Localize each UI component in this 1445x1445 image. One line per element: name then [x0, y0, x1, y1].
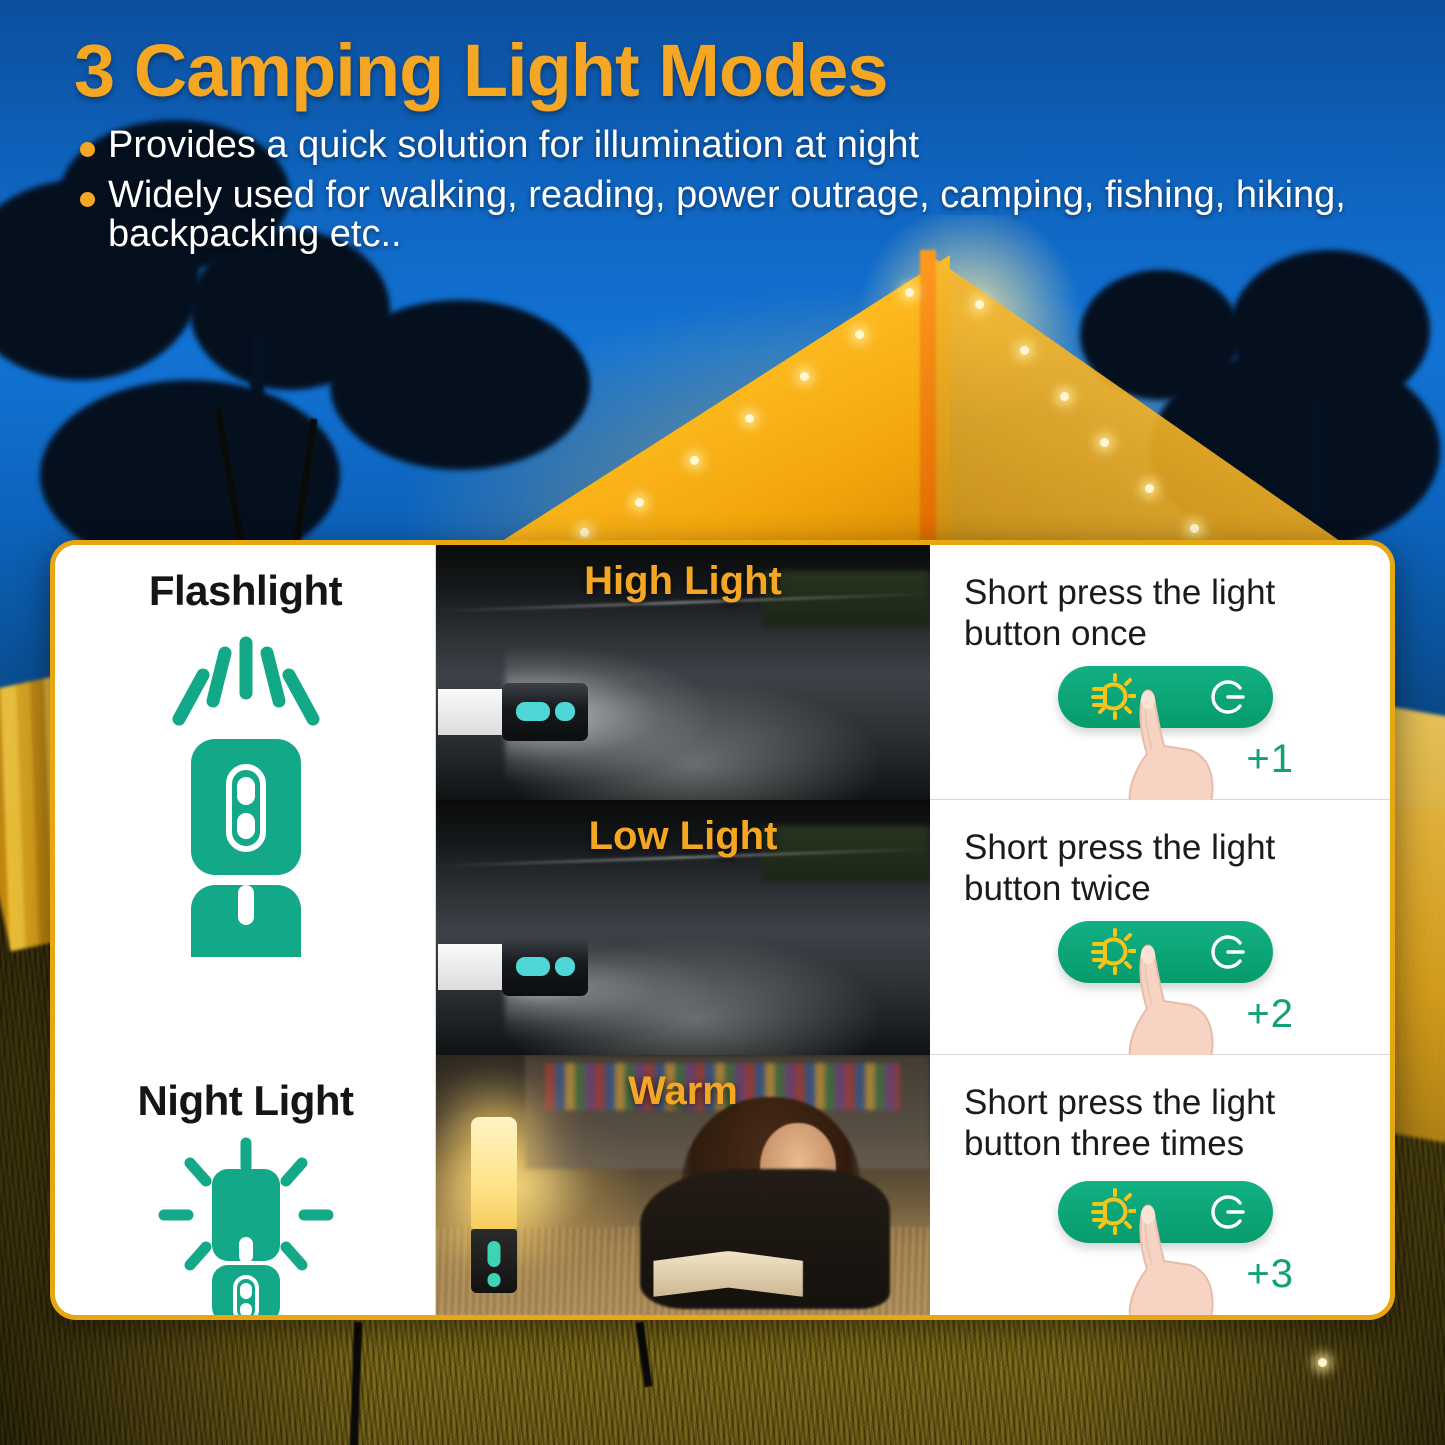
press-count-label: +3	[1246, 1252, 1294, 1297]
string-light	[1318, 1358, 1327, 1367]
flashlight-product	[438, 938, 588, 996]
power-icon	[1207, 676, 1249, 718]
bullet-text: Provides a quick solution for illuminati…	[108, 124, 919, 166]
string-light	[1060, 392, 1069, 401]
power-icon	[1207, 1191, 1249, 1233]
lantern-base	[471, 1229, 517, 1293]
flashlight-body	[502, 938, 588, 996]
flashlight-button-small	[555, 957, 575, 976]
bulb-rays-icon	[1082, 1187, 1136, 1237]
tree-silhouette	[330, 300, 590, 470]
instruction-text: Short press the light button twice	[964, 828, 1344, 909]
press-count-label: +2	[1246, 992, 1294, 1037]
string-light	[635, 498, 644, 507]
photo-caption: Low Light	[436, 814, 930, 859]
light-button-control[interactable]	[1058, 666, 1273, 728]
photo-caption: High Light	[436, 559, 930, 604]
press-count-label: +1	[1246, 737, 1294, 782]
string-light	[580, 528, 589, 537]
light-button-control[interactable]	[1058, 1181, 1273, 1243]
button-demo-zone: +2	[930, 905, 1390, 1055]
photo-caption: Warm	[436, 1069, 930, 1114]
lantern-button-large	[487, 1241, 500, 1267]
feature-bullet-list: Provides a quick solution for illuminati…	[0, 108, 1445, 255]
string-light	[1145, 484, 1154, 493]
string-light	[690, 456, 699, 465]
flashlight-button-large	[516, 957, 550, 976]
instruction-text: Short press the light button once	[964, 573, 1344, 654]
bulb-rays-icon	[1082, 927, 1136, 977]
tent-ridge	[920, 250, 936, 550]
flashlight-product	[438, 683, 588, 741]
string-light	[855, 330, 864, 339]
button-demo-zone: +3	[930, 1165, 1390, 1315]
instruction-cell-three-times: Short press the light button three times	[930, 1055, 1390, 1315]
string-light	[1100, 438, 1109, 447]
bullet-text: Widely used for walking, reading, power …	[108, 174, 1346, 256]
string-light	[800, 372, 809, 381]
flashlight-tail	[438, 689, 502, 735]
string-light	[1190, 524, 1199, 533]
photo-cell-high-light: High Light	[436, 545, 930, 800]
bullet-dot-icon	[80, 142, 95, 157]
light-button-control[interactable]	[1058, 921, 1273, 983]
bullet-dot-icon	[80, 192, 95, 207]
photo-cell-low-light: Low Light	[436, 800, 930, 1055]
flashlight-button-large	[516, 702, 550, 721]
flashlight-tail	[438, 944, 502, 990]
mode-label: Night Light	[137, 1077, 353, 1125]
flashlight-button-small	[555, 702, 575, 721]
bulb-rays-icon	[1082, 672, 1136, 722]
page-title: 3 Camping Light Modes	[0, 0, 1445, 108]
string-light	[745, 414, 754, 423]
instruction-cell-twice: Short press the light button twice	[930, 800, 1390, 1055]
string-light	[1020, 346, 1029, 355]
flashlight-body	[502, 683, 588, 741]
power-icon	[1207, 931, 1249, 973]
light-modes-card: Flashlight	[50, 540, 1395, 1320]
instruction-cell-once: Short press the light button once	[930, 545, 1390, 800]
mode-cell-flashlight: Flashlight	[55, 545, 436, 1055]
list-item: Widely used for walking, reading, power …	[74, 176, 1445, 255]
header-block: 3 Camping Light Modes Provides a quick s…	[0, 0, 1445, 265]
lantern-button-small	[487, 1273, 500, 1287]
photo-cell-warm: Warm	[436, 1055, 930, 1315]
mode-cell-night-light: Night Light	[55, 1055, 436, 1315]
warm-lantern-light	[471, 1117, 517, 1229]
mode-label: Flashlight	[149, 567, 342, 615]
night-light-glow-icon	[146, 1137, 346, 1315]
instruction-text: Short press the light button three times	[964, 1083, 1344, 1164]
modes-table: Flashlight	[55, 545, 1390, 1315]
list-item: Provides a quick solution for illuminati…	[74, 126, 1445, 166]
flashlight-beam-icon	[151, 627, 341, 962]
string-light	[975, 300, 984, 309]
button-demo-zone: +1	[930, 650, 1390, 800]
string-light	[905, 288, 914, 297]
